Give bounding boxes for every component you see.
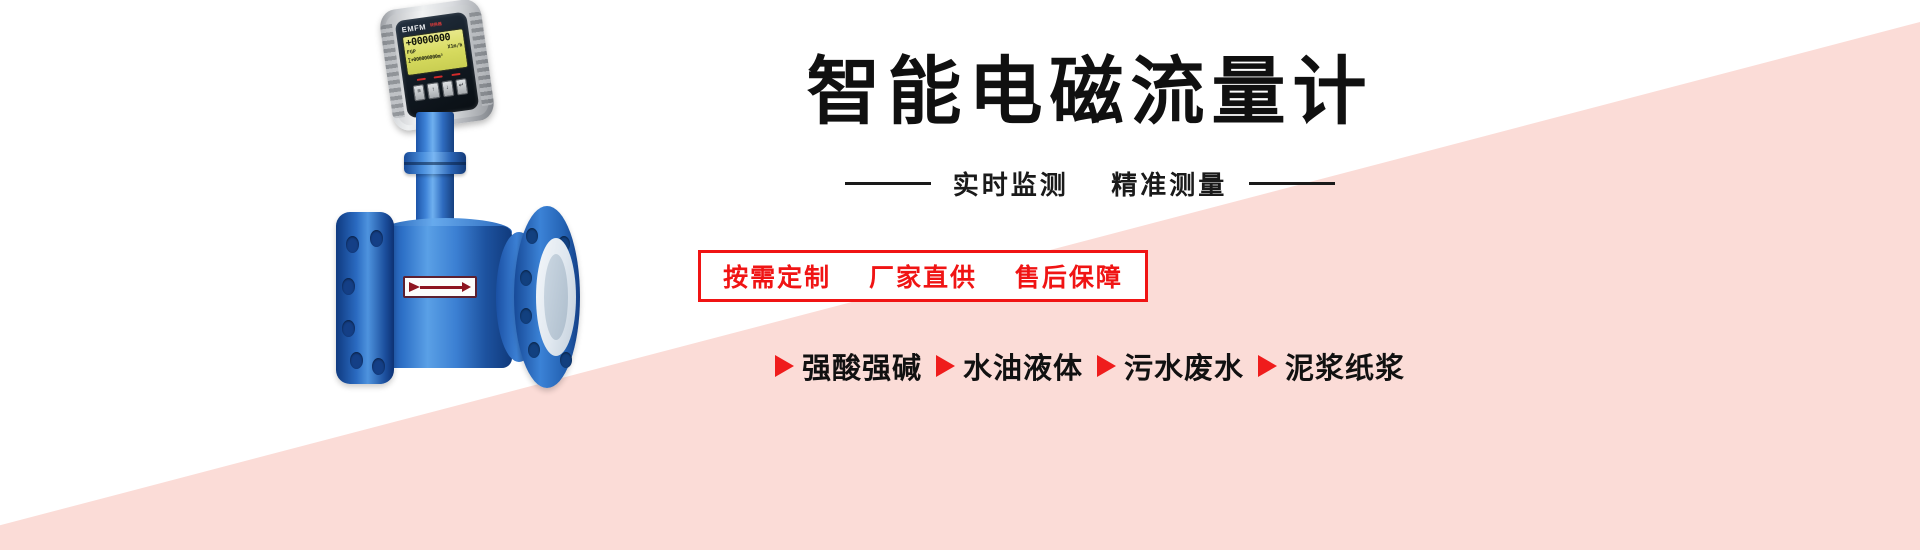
triangle-right-icon [1097,355,1116,377]
status-led [417,78,426,81]
highlight-item-3: 售后保障 [1015,264,1123,292]
left-flange [336,212,394,384]
flange-bore [544,254,568,340]
flange-bolt-hole [346,236,359,253]
flange-bolt-hole [350,352,363,369]
neck-collar-flange [404,152,466,174]
feature-item: 污水废水 [1097,345,1244,387]
highlight-box: 按需定制 厂家直供 售后保障 [698,250,1148,302]
feature-label: 污水废水 [1124,345,1244,387]
feature-item: 泥浆纸浆 [1258,345,1405,387]
feature-item: 强酸强碱 [775,345,922,387]
converter-keypad[interactable]: ≡ ↑ ↓ ↵ [413,78,469,101]
flange-bolt-hole [528,342,540,358]
feature-label: 强酸强碱 [802,345,922,387]
subtitle-item-1: 实时监测 [953,170,1069,200]
status-led [434,75,443,78]
status-led [451,73,460,76]
triangle-right-icon [1258,355,1277,377]
converter-faceplate: EMFM 转换器 +0000000 FGP X1m/h ∑+000000000m… [395,11,480,118]
flowmeter-illustration: EMFM 转换器 +0000000 FGP X1m/h ∑+000000000m… [300,0,640,450]
arrow-head-icon [409,282,420,292]
keypad-key[interactable]: ↓ [441,80,454,97]
converter-brand-sub: 转换器 [430,21,443,29]
subtitle-rule-left [845,182,931,185]
keypad-key[interactable]: ↵ [455,78,468,95]
highlight-box-text: 按需定制 厂家直供 售后保障 [723,258,1123,294]
flange-bolt-hole [370,230,383,247]
feature-list: 强酸强碱 水油液体 污水废水 泥浆纸浆 [615,345,1565,387]
feature-label: 泥浆纸浆 [1285,345,1405,387]
triangle-right-icon [775,355,794,377]
highlight-item-1: 按需定制 [723,264,831,292]
flange-bolt-hole [526,228,538,244]
flange-bolt-hole [560,352,572,368]
flange-bolt-hole [342,320,355,337]
feature-item: 水油液体 [936,345,1083,387]
subtitle-text: 实时监测 精准测量 [953,165,1228,202]
flange-bolt-hole [520,270,532,286]
banner-content: 智能电磁流量计 实时监测 精准测量 按需定制 厂家直供 售后保障 强酸强碱 [640,0,1540,550]
keypad-key[interactable]: ≡ [413,84,426,101]
converter-brand-text: EMFM [401,22,426,34]
triangle-right-icon [936,355,955,377]
subtitle-item-2: 精准测量 [1111,170,1227,200]
product-banner: EMFM 转换器 +0000000 FGP X1m/h ∑+000000000m… [0,0,1920,550]
feature-label: 水油液体 [963,345,1083,387]
flange-bolt-hole [342,278,355,295]
flange-bolt-hole [372,358,385,375]
page-title: 智能电磁流量计 [640,50,1540,134]
lcd-display: +0000000 FGP X1m/h ∑+000000000m³ [402,28,469,76]
subtitle-block: 实时监测 精准测量 [640,165,1540,202]
flow-direction-arrow-icon [403,276,477,298]
keypad-key[interactable]: ↑ [427,82,440,99]
arrow-tip-icon [462,282,471,292]
highlight-item-2: 厂家直供 [869,264,977,292]
arrow-shaft [420,286,462,289]
flange-bolt-hole [520,308,532,324]
subtitle-rule-right [1249,182,1335,185]
